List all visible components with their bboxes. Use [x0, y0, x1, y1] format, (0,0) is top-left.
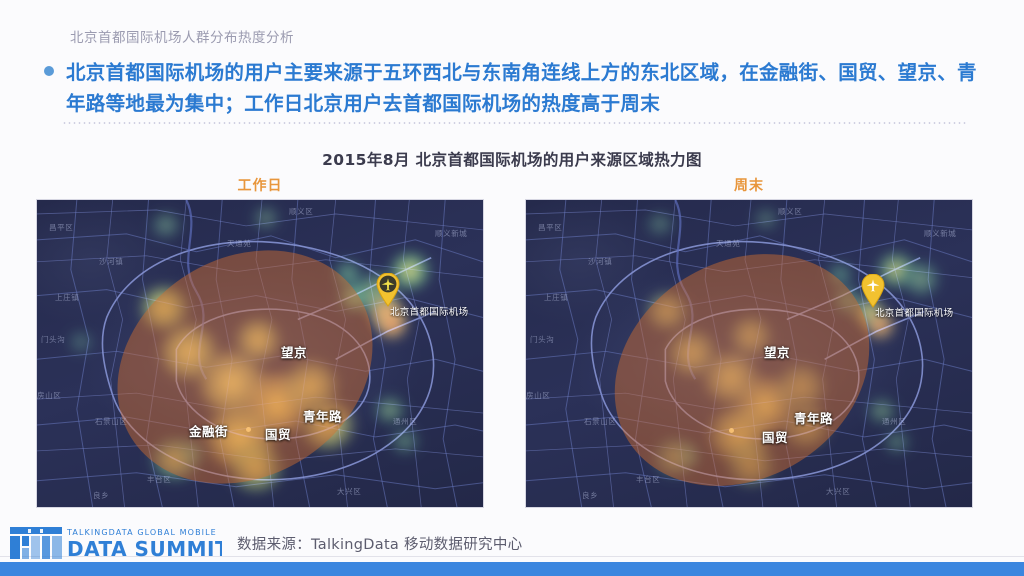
district-label: 顺义区 — [289, 206, 313, 217]
district-label: 通州区 — [393, 416, 417, 427]
district-label: 大兴区 — [337, 486, 361, 497]
talkingdata-summit-logo: TALKINGDATA GLOBAL MOBILE DATA SUMMIT — [10, 526, 222, 560]
place-label-wangjing: 望京 — [281, 342, 307, 361]
district-label: 门头沟 — [41, 334, 65, 345]
district-label: 沙河镇 — [588, 256, 612, 267]
place-label-guomao: 国贸 — [265, 424, 291, 443]
place-label-wangjing: 望京 — [764, 342, 790, 361]
slide-root: 北京首都国际机场人群分布热度分析 北京首都国际机场的用户主要来源于五环西北与东南… — [0, 0, 1024, 576]
district-label: 石景山区 — [95, 416, 127, 427]
place-label-guomao: 国贸 — [762, 427, 788, 446]
bullet-dot-icon — [44, 66, 54, 76]
place-label-qingnianlu: 青年路 — [794, 408, 833, 427]
district-label: 良乡 — [582, 490, 598, 501]
panel-label-weekday: 工作日 — [36, 175, 484, 195]
footer-accent-bar — [0, 562, 1024, 576]
district-label: 上庄镇 — [55, 292, 79, 303]
district-label: 良乡 — [93, 490, 109, 501]
district-label: 沙河镇 — [99, 256, 123, 267]
district-label: 丰台区 — [636, 474, 660, 485]
heatmap-panel-weekday[interactable]: 昌平区 沙河镇 上庄镇 天通苑 顺义区 顺义新城 门头沟 房山区 石景山区 丰台… — [36, 199, 484, 508]
key-finding-text: 北京首都国际机场的用户主要来源于五环西北与东南角连线上方的东北区域，在金融街、国… — [66, 57, 994, 119]
heatmap-panel-weekend[interactable]: 昌平区 沙河镇 上庄镇 天通苑 顺义区 顺义新城 门头沟 房山区 石景山区 丰台… — [525, 199, 973, 508]
district-label: 房山区 — [526, 390, 550, 401]
logo-wordmark: DATA SUMMIT — [67, 537, 222, 560]
data-source-text: 数据来源：TalkingData 移动数据研究中心 — [237, 533, 522, 554]
district-label: 顺义新城 — [435, 228, 467, 239]
district-label: 顺义新城 — [924, 228, 956, 239]
district-label: 大兴区 — [826, 486, 850, 497]
district-label: 石景山区 — [584, 416, 616, 427]
place-label-qingnianlu: 青年路 — [303, 406, 342, 425]
district-label: 通州区 — [882, 416, 906, 427]
district-label: 天通苑 — [227, 238, 251, 249]
place-label-jinrongjie: 金融街 — [189, 421, 228, 440]
district-label: 天通苑 — [716, 238, 740, 249]
poi-dot-icon — [246, 427, 251, 432]
district-label: 丰台区 — [147, 474, 171, 485]
airport-pin-icon[interactable] — [375, 273, 401, 307]
key-finding-bullet: 北京首都国际机场的用户主要来源于五环西北与东南角连线上方的东北区域，在金融街、国… — [44, 57, 994, 119]
header-divider — [62, 122, 967, 124]
page-kicker: 北京首都国际机场人群分布热度分析 — [70, 26, 294, 46]
chart-title: 2015年8月 北京首都国际机场的用户来源区域热力图 — [0, 148, 1024, 170]
airport-pin-label: 北京首都国际机场 — [875, 305, 953, 319]
logo-tagline: TALKINGDATA GLOBAL MOBILE — [66, 528, 217, 537]
district-label: 昌平区 — [538, 222, 562, 233]
poi-dot-icon — [729, 428, 734, 433]
airport-pin-label: 北京首都国际机场 — [390, 304, 468, 318]
district-label: 上庄镇 — [544, 292, 568, 303]
airport-pin-icon[interactable] — [860, 274, 886, 308]
district-label: 顺义区 — [778, 206, 802, 217]
district-label: 昌平区 — [49, 222, 73, 233]
district-label: 房山区 — [37, 390, 61, 401]
panel-label-weekend: 周末 — [525, 175, 973, 195]
district-label: 门头沟 — [530, 334, 554, 345]
